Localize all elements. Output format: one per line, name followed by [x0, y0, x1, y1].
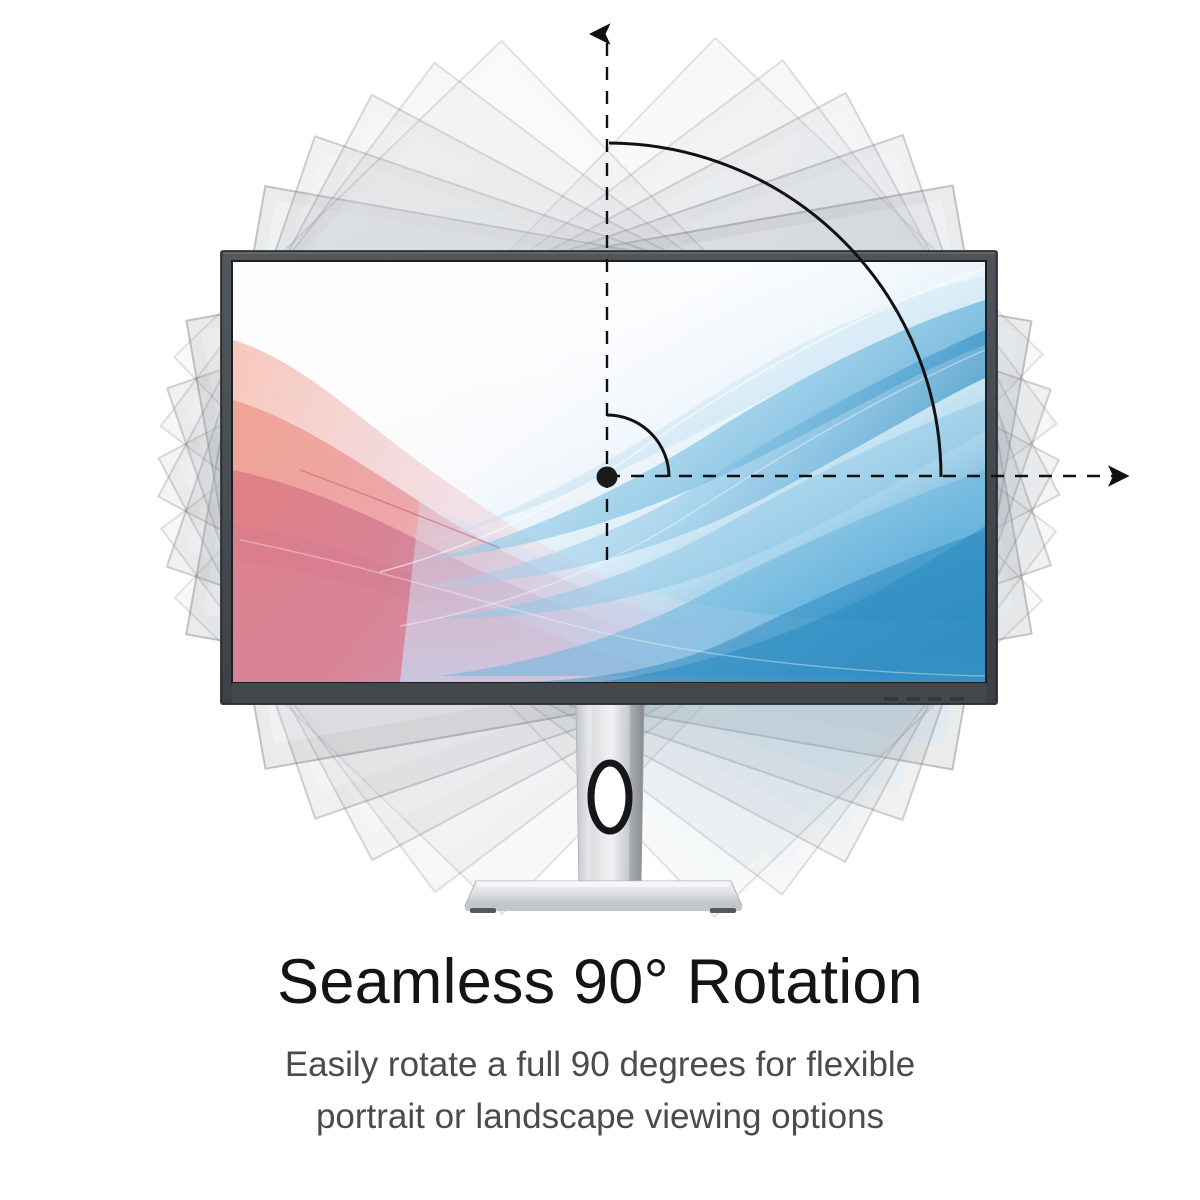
- page-title: Seamless 90° Rotation: [0, 948, 1200, 1016]
- cable-management-hole: [591, 763, 629, 831]
- product-feature-image: Seamless 90° Rotation Easily rotate a fu…: [0, 0, 1200, 1200]
- caption-block: Seamless 90° Rotation Easily rotate a fu…: [0, 948, 1200, 1141]
- subtitle-line-2: portrait or landscape viewing options: [0, 1092, 1200, 1142]
- subtitle-line-1: Easily rotate a full 90 degrees for flex…: [0, 1040, 1200, 1090]
- pivot-point-dot: [597, 467, 618, 488]
